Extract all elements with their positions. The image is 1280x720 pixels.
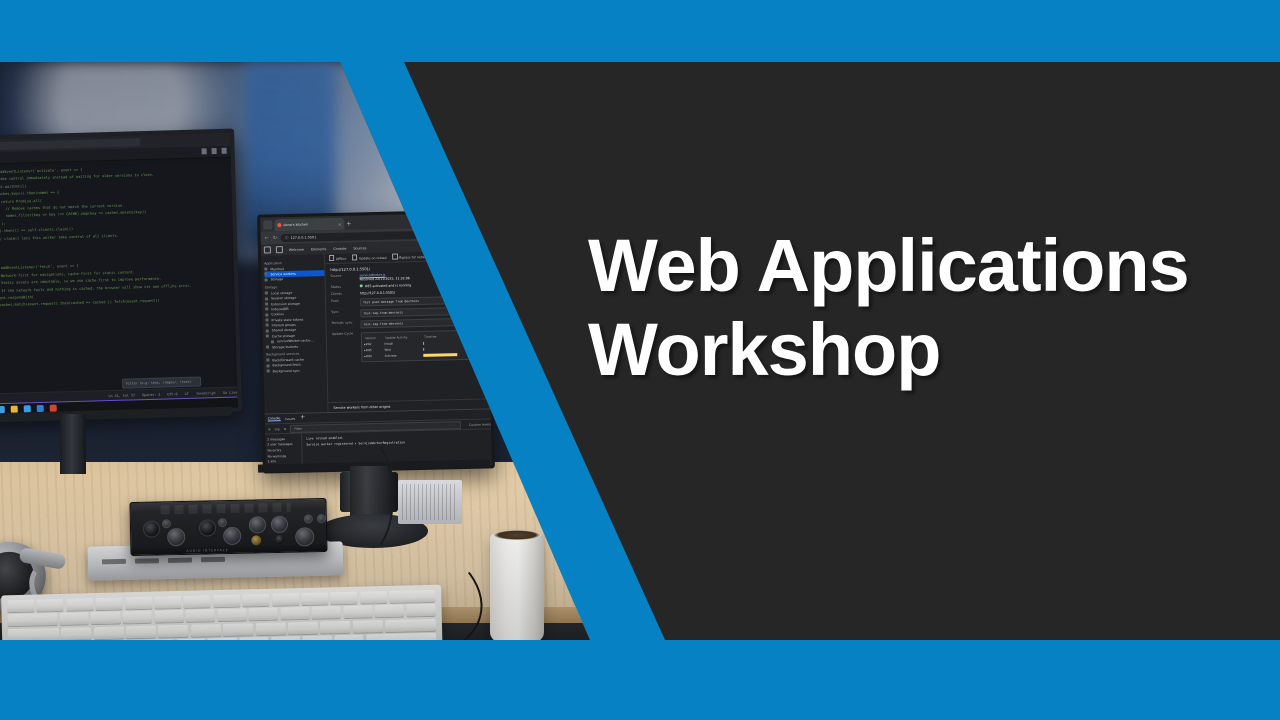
key[interactable] bbox=[301, 592, 328, 605]
key[interactable] bbox=[191, 624, 221, 637]
bypass-network-checkbox[interactable]: Bypass for network bbox=[392, 253, 430, 260]
key[interactable] bbox=[158, 625, 188, 638]
key[interactable] bbox=[123, 611, 152, 624]
laptop-ports bbox=[102, 557, 225, 565]
key[interactable] bbox=[91, 612, 120, 625]
update-cycle-table: Version Update Activity Timeline ▸#82 bbox=[361, 330, 485, 363]
address-text: 127.0.0.1:5501 bbox=[290, 235, 316, 240]
new-tab-icon[interactable]: + bbox=[346, 221, 351, 228]
checkbox-icon bbox=[329, 255, 334, 260]
group-icon bbox=[266, 324, 269, 327]
key[interactable] bbox=[280, 607, 309, 620]
devtools-tab-welcome[interactable]: Welcome bbox=[288, 247, 305, 251]
key[interactable] bbox=[223, 623, 253, 636]
coffee-mug bbox=[490, 534, 544, 640]
token-icon bbox=[265, 318, 268, 321]
info-icon: ⓘ bbox=[285, 235, 289, 240]
key[interactable] bbox=[375, 605, 404, 618]
source-received: Received 22/11/2025, 11:32:06 bbox=[360, 276, 410, 281]
devtools-tab-elements[interactable]: Elements bbox=[310, 247, 327, 251]
key[interactable] bbox=[334, 635, 364, 640]
key[interactable] bbox=[154, 596, 181, 609]
vscode-icon[interactable] bbox=[37, 404, 44, 411]
key-tab[interactable] bbox=[8, 613, 58, 626]
gear-icon bbox=[264, 273, 267, 276]
key[interactable] bbox=[343, 606, 372, 619]
sync-input[interactable]: test-tag-from-devtools bbox=[360, 307, 483, 318]
status-language: JavaScript bbox=[196, 391, 217, 396]
row-activity: Activate bbox=[385, 352, 424, 359]
editor-code-area[interactable]: self.addEventListener('activate', event … bbox=[0, 158, 242, 392]
key[interactable] bbox=[184, 595, 211, 608]
update-on-reload-label: Update on reload bbox=[359, 256, 387, 261]
title-block: Web Applications Workshop bbox=[588, 224, 1280, 392]
database-icon bbox=[265, 278, 268, 281]
key[interactable] bbox=[312, 606, 341, 619]
clear-console-icon[interactable]: ⊘ bbox=[268, 427, 271, 431]
monitor-knob[interactable] bbox=[249, 516, 266, 533]
editor-filter-placeholder: Filter (e.g. text, /regex/, !text) bbox=[126, 380, 191, 386]
devtools-tab-sources[interactable]: Sources bbox=[352, 246, 367, 250]
browser-tab-title: dana's kitchen bbox=[283, 223, 308, 228]
console-context-selector[interactable]: top bbox=[275, 427, 280, 431]
key[interactable] bbox=[288, 621, 318, 634]
timeline-bar bbox=[423, 353, 457, 357]
audio-brand-plate bbox=[161, 503, 291, 515]
key[interactable] bbox=[176, 639, 206, 640]
cache-entry-icon bbox=[271, 340, 274, 343]
left-monitor-code-editor: self.addEventListener('activate', event … bbox=[0, 128, 242, 418]
clients-label: Clients bbox=[331, 291, 357, 296]
volume-knob[interactable] bbox=[295, 527, 314, 546]
key[interactable] bbox=[37, 599, 64, 612]
devtools-panel: Welcome Elements Console Sources Applica… bbox=[261, 239, 492, 470]
key[interactable] bbox=[60, 613, 89, 626]
key-shift-right[interactable] bbox=[366, 633, 437, 640]
drawer-tab-console[interactable]: Console bbox=[268, 416, 281, 421]
editor-window-buttons[interactable] bbox=[202, 148, 227, 155]
bypass-label: Bypass for network bbox=[399, 255, 430, 260]
audio-interface: AUDIO INTERFACE bbox=[129, 498, 327, 556]
key-capslock[interactable] bbox=[8, 628, 59, 640]
maximize-icon[interactable] bbox=[212, 148, 217, 154]
key[interactable] bbox=[144, 639, 174, 640]
keyboard[interactable] bbox=[1, 585, 443, 640]
checkbox-icon bbox=[352, 255, 357, 260]
key[interactable] bbox=[360, 591, 387, 604]
headphone-jack-1 bbox=[251, 535, 261, 545]
phantom-switch[interactable] bbox=[317, 514, 326, 523]
key[interactable] bbox=[272, 593, 299, 606]
drawer-tab-issues[interactable]: Issues bbox=[285, 416, 295, 420]
row-timeline bbox=[423, 351, 481, 358]
key[interactable] bbox=[217, 609, 246, 622]
status-value: #85 activated and is running bbox=[360, 282, 483, 289]
service-workers-pane: Offline Update on reload Bypass for netw… bbox=[325, 250, 491, 413]
cookie-icon bbox=[265, 313, 268, 316]
input-jack-1 bbox=[143, 520, 160, 537]
port-icon bbox=[135, 558, 159, 564]
key[interactable] bbox=[213, 595, 240, 608]
offline-label: Offline bbox=[336, 257, 347, 261]
left-monitor-stand bbox=[60, 414, 86, 474]
devtools-tab-console[interactable]: Console bbox=[332, 246, 347, 250]
tree-item-label: Storage bbox=[271, 278, 284, 282]
push-input[interactable]: Test push message from DevTools bbox=[360, 296, 483, 307]
key[interactable] bbox=[271, 636, 301, 640]
table-icon bbox=[265, 308, 268, 311]
table-icon bbox=[265, 297, 268, 300]
port-icon bbox=[102, 559, 126, 565]
key[interactable] bbox=[126, 625, 156, 638]
headphone-jack-2 bbox=[275, 535, 284, 544]
key[interactable] bbox=[208, 638, 238, 640]
app-icon[interactable] bbox=[50, 404, 57, 411]
tab-search-icon[interactable] bbox=[263, 220, 272, 229]
table-row[interactable]: ▸#85 Activate bbox=[364, 351, 481, 360]
pad-switch-2[interactable] bbox=[218, 518, 227, 527]
key-backspace[interactable] bbox=[389, 590, 435, 603]
address-bar[interactable]: ⓘ 127.0.0.1:5501 bbox=[281, 229, 486, 242]
key[interactable] bbox=[353, 620, 383, 633]
slide-canvas: self.addEventListener('activate', event … bbox=[0, 0, 1280, 720]
periodic-sync-label: Periodic sync bbox=[332, 320, 358, 329]
row-version: ▸#85 bbox=[364, 353, 384, 359]
sync-label: Sync bbox=[331, 309, 357, 318]
gain-knob-2[interactable] bbox=[223, 527, 241, 545]
share-icon bbox=[266, 329, 269, 332]
key[interactable] bbox=[330, 592, 357, 605]
close-icon[interactable] bbox=[222, 148, 227, 154]
table-icon bbox=[265, 292, 268, 295]
bucket-icon bbox=[266, 345, 269, 348]
console-settings-icon[interactable]: ⚙ bbox=[284, 427, 287, 431]
inspect-icon[interactable] bbox=[264, 246, 271, 253]
update-cycle-label: Update Cycle bbox=[332, 331, 359, 363]
key[interactable] bbox=[303, 635, 333, 640]
console-filter-placeholder: Filter bbox=[294, 426, 302, 430]
port-icon bbox=[168, 557, 192, 563]
table-icon bbox=[265, 302, 268, 305]
search-icon[interactable] bbox=[0, 405, 5, 412]
device-toolbar-icon[interactable] bbox=[276, 246, 283, 253]
periodic-sync-input[interactable]: test-tag-from-devtools bbox=[361, 318, 484, 329]
tree-item-storage-buckets[interactable]: Storage buckets bbox=[266, 343, 326, 350]
desk-speaker bbox=[398, 480, 462, 524]
back-icon[interactable]: ← bbox=[265, 235, 269, 241]
offline-checkbox[interactable]: Offline bbox=[329, 255, 346, 262]
cache-icon bbox=[266, 359, 269, 362]
title-line-2: Workshop bbox=[588, 308, 1280, 392]
mix-knob[interactable] bbox=[271, 516, 288, 533]
input-jack-2 bbox=[199, 519, 216, 536]
gain-knob-1[interactable] bbox=[167, 528, 185, 546]
application-tree[interactable]: Application Manifest Service workers Sto… bbox=[261, 254, 329, 414]
drawer-add-icon[interactable]: + bbox=[300, 414, 305, 421]
minimize-icon[interactable] bbox=[202, 148, 207, 154]
port-icon bbox=[201, 557, 225, 563]
status-eol: LF bbox=[185, 392, 189, 396]
update-on-reload-checkbox[interactable]: Update on reload bbox=[352, 254, 386, 261]
audio-footer-text: AUDIO INTERFACE bbox=[186, 548, 228, 553]
key[interactable] bbox=[255, 622, 285, 635]
key-enter[interactable] bbox=[385, 619, 436, 632]
timeline-tick bbox=[423, 347, 425, 350]
key[interactable] bbox=[186, 610, 215, 623]
devtools-body: Application Manifest Service workers Sto… bbox=[261, 250, 491, 414]
status-cursor: Ln 41, Col 57 bbox=[108, 393, 135, 398]
sync-icon bbox=[267, 369, 270, 372]
service-worker-fields: Source serviceWorker.js Received 22/11/2… bbox=[325, 270, 489, 363]
tree-item-background-sync[interactable]: Background sync bbox=[267, 367, 327, 374]
source-value: serviceWorker.js Received 22/11/2025, 11… bbox=[359, 271, 482, 282]
right-monitor-devtools: dana's kitchen × + ← ↻ ⓘ 127.0.0.1:5501 bbox=[257, 209, 495, 473]
console-levels-dropdown[interactable]: Custom levels bbox=[469, 422, 491, 426]
tree-item-label: Background sync bbox=[273, 368, 300, 373]
status-spaces: Spaces: 2 bbox=[142, 393, 160, 398]
file-icon bbox=[264, 267, 267, 270]
folder-icon[interactable] bbox=[11, 405, 18, 412]
key[interactable] bbox=[7, 600, 34, 613]
tab-close-icon[interactable]: × bbox=[338, 221, 341, 226]
key[interactable] bbox=[66, 598, 93, 611]
cache-icon bbox=[266, 335, 269, 338]
status-label: Status bbox=[331, 284, 357, 289]
tree-item-storage[interactable]: Storage bbox=[265, 276, 325, 283]
pad-switch-1[interactable] bbox=[162, 519, 171, 528]
key[interactable] bbox=[95, 597, 122, 610]
tree-item-label: Manifest bbox=[270, 267, 284, 271]
key[interactable] bbox=[320, 621, 350, 634]
key[interactable] bbox=[61, 627, 91, 640]
favicon-icon bbox=[277, 223, 281, 227]
timeline-tick bbox=[423, 341, 425, 344]
key[interactable] bbox=[249, 608, 278, 621]
tree-item-label: Storage buckets bbox=[272, 344, 298, 349]
browser-icon[interactable] bbox=[24, 405, 31, 412]
key[interactable] bbox=[406, 604, 435, 617]
checkbox-icon bbox=[392, 254, 397, 259]
power-switch[interactable] bbox=[304, 514, 313, 523]
title-line-1: Web Applications bbox=[588, 224, 1280, 308]
key[interactable] bbox=[242, 594, 269, 607]
key[interactable] bbox=[154, 610, 183, 623]
key[interactable] bbox=[125, 597, 152, 610]
status-golive: Go Live bbox=[223, 390, 237, 394]
tree-item-label: Cookies bbox=[271, 312, 284, 316]
key[interactable] bbox=[94, 626, 124, 639]
push-label: Push bbox=[331, 298, 357, 307]
status-dot-icon bbox=[360, 284, 363, 287]
clients-value: http://127.0.0.1:5501/ bbox=[360, 289, 483, 296]
source-label: Source bbox=[330, 273, 356, 282]
key[interactable] bbox=[239, 637, 269, 640]
fetch-icon bbox=[266, 364, 269, 367]
reload-icon[interactable]: ↻ bbox=[273, 235, 277, 241]
status-encoding: UTF-8 bbox=[167, 392, 177, 396]
